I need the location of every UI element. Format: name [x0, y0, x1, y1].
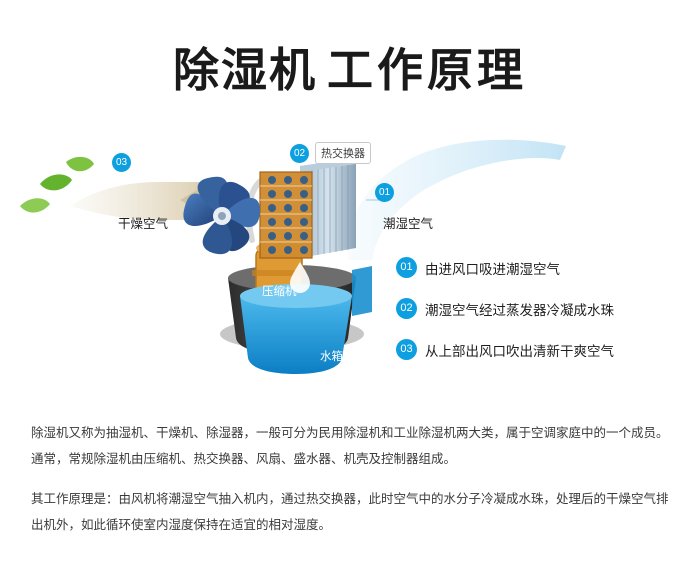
page-title-main: 除湿机 — [173, 43, 317, 97]
page-title: 除湿机工作原理 — [0, 34, 700, 100]
badge-01-diagram: 01 — [375, 183, 394, 202]
legend-text-03: 从上部出风口吹出清新干爽空气 — [425, 340, 614, 360]
label-water-tank: 水箱 — [320, 348, 343, 364]
legend-text-01: 由进风口吸进潮湿空气 — [425, 258, 560, 278]
label-humid-air: 潮湿空气 — [383, 213, 433, 232]
diagram-illustration: 03 干燥空气 02 热交换器 01 潮湿空气 压缩机 水箱 01 由进风口吸进… — [0, 120, 700, 410]
badge-03-diagram: 03 — [112, 153, 131, 172]
legend-item-02: 02 潮湿空气经过蒸发器冷凝成水珠 — [396, 298, 614, 319]
legend-item-01: 01 由进风口吸进潮湿空气 — [396, 257, 560, 278]
legend-item-03: 03 从上部出风口吹出清新干爽空气 — [396, 339, 614, 360]
page-title-sub: 工作原理 — [327, 43, 527, 97]
label-heat-exchanger: 热交换器 — [315, 142, 371, 164]
body-paragraph-2: 其工作原理是：由风机将潮湿空气抽入机内，通过热交换器，此时空气中的水分子冷凝成水… — [31, 486, 671, 538]
condenser-coil — [260, 172, 312, 258]
label-compressor: 压缩机 — [262, 283, 297, 299]
legend-text-02: 潮湿空气经过蒸发器冷凝成水珠 — [425, 299, 614, 319]
legend-badge-01: 01 — [396, 257, 417, 278]
body-paragraph-1: 除湿机又称为抽湿机、干燥机、除湿器，一般可分为民用除湿机和工业除湿机两大类，属于… — [31, 420, 671, 472]
page-root: 除湿机工作原理 — [0, 0, 700, 566]
legend-badge-02: 02 — [396, 298, 417, 319]
legend-badge-03: 03 — [396, 339, 417, 360]
badge-02-diagram: 02 — [290, 144, 309, 163]
label-dry-air: 干燥空气 — [118, 213, 168, 232]
body-copy: 除湿机又称为抽湿机、干燥机、除湿器，一般可分为民用除湿机和工业除湿机两大类，属于… — [31, 420, 671, 538]
